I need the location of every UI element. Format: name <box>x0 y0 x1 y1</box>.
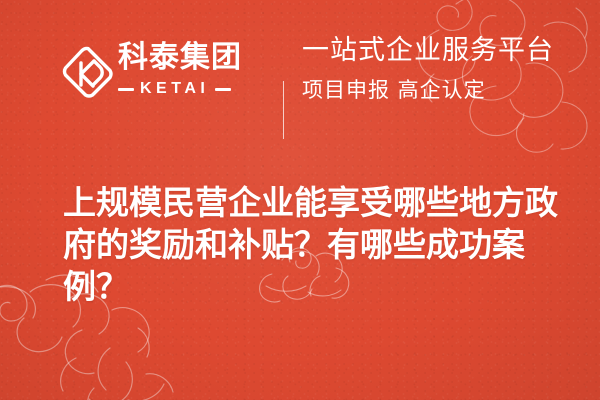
brand-name-cn: 科泰集团 <box>118 41 276 75</box>
header-divider <box>283 81 284 139</box>
brand-logo-lockup[interactable]: 科泰集团 KETAI <box>60 42 276 106</box>
brand-name-latin: KETAI <box>140 81 209 97</box>
ketai-diamond-kp-logo-icon <box>60 45 116 103</box>
wordmark-dash-left <box>118 88 134 91</box>
banner-header: 科泰集团 KETAI 一站式企业服务平台 项目申报 高企认定 <box>0 34 600 114</box>
banner-headline: 上规模民营企业能享受哪些地方政府的奖励和补贴？有哪些成功案例？ <box>63 182 571 308</box>
brand-wordmark: 科泰集团 KETAI <box>118 42 276 102</box>
tagline-primary: 一站式企业服务平台 <box>302 34 582 68</box>
promo-banner: 科泰集团 KETAI 一站式企业服务平台 项目申报 高企认定 上规模民营企业能享… <box>0 0 600 400</box>
tagline-secondary: 项目申报 高企认定 <box>302 76 582 104</box>
brand-latin-row: KETAI <box>118 80 276 98</box>
wordmark-dash-right <box>215 88 231 91</box>
tagline-block: 一站式企业服务平台 项目申报 高企认定 <box>302 34 582 104</box>
